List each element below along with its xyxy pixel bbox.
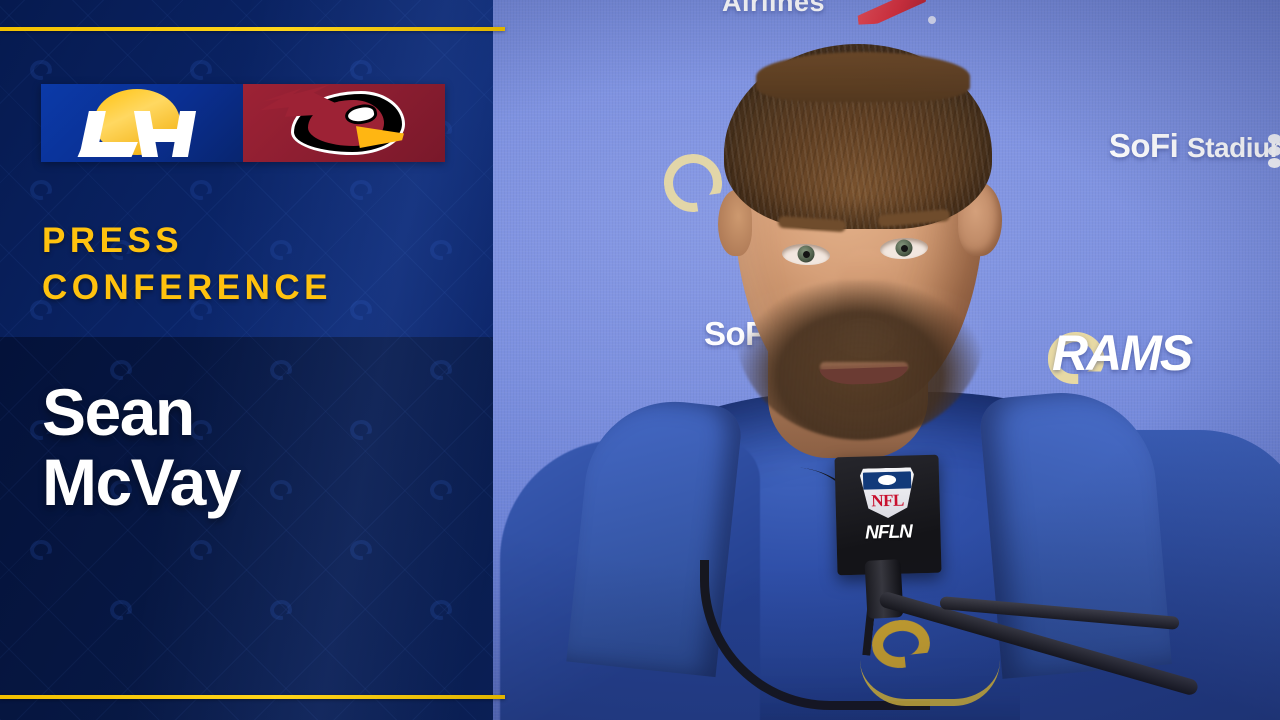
rams-la-logo-icon bbox=[62, 91, 222, 155]
matchup-logo-strip bbox=[41, 84, 445, 162]
away-team-logo-cell bbox=[243, 84, 445, 162]
speaker-last-name: McVay bbox=[42, 448, 482, 518]
gold-rule-top bbox=[0, 27, 505, 31]
speaker-first-name: Sean bbox=[42, 375, 194, 449]
kicker-line-2: CONFERENCE bbox=[42, 265, 462, 312]
cardinals-bird-logo-icon bbox=[264, 88, 424, 158]
kicker-line-1: PRESS bbox=[42, 221, 183, 260]
speaker-name: Sean McVay bbox=[42, 378, 482, 518]
event-kicker: PRESS CONFERENCE bbox=[42, 218, 462, 311]
home-team-logo-cell bbox=[41, 84, 243, 162]
broadcast-frame: Airlines SoFi Stadium SoFi Stadium RAMS bbox=[0, 0, 1280, 720]
gold-rule-bottom bbox=[0, 695, 505, 699]
